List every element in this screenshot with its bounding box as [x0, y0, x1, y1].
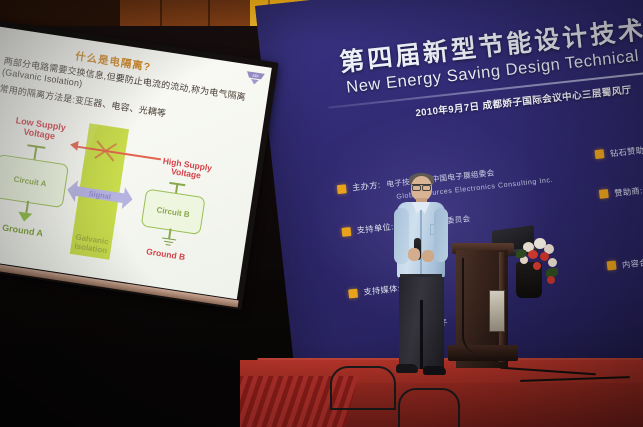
speaker-left-arm: [394, 208, 409, 264]
stage-railing: [398, 388, 460, 427]
speaker-left-hand: [408, 248, 420, 261]
foreground-dark-floor: [0, 345, 240, 427]
podium-nameplate: [489, 290, 505, 332]
speaker-right-shoe: [423, 366, 446, 375]
stage-railing: [330, 366, 396, 410]
screenshot-root: 第四届新型节能设计技术 New Energy Saving Design Tec…: [0, 0, 643, 427]
diagram-high-supply-label: High Supply Voltage: [153, 155, 221, 183]
diagram-circuit-b: Circuit B: [141, 188, 206, 235]
sponsor-row-sponsor: 赞助商: TI: [599, 179, 643, 201]
microphone-cable: [462, 258, 480, 354]
bullet-square-icon: [595, 149, 605, 159]
bullet-square-icon: [337, 184, 347, 194]
screen-surface: 什么是电隔离? 两部分电路需要交换信息,但要防止电流的流动,称为电气隔离(Gal…: [0, 25, 272, 299]
adi-logo-icon: ADI: [244, 69, 266, 88]
diagram-ground-b-label: Ground B: [136, 246, 195, 264]
projection-screen: 什么是电隔离? 两部分电路需要交换信息,但要防止电流的流动,称为电气隔离(Gal…: [0, 18, 279, 310]
diagram-ground-a-label: Ground A: [0, 221, 59, 242]
sponsor-row-label: 钻石赞助商:: [609, 142, 643, 159]
conference-backdrop-banner: 第四届新型节能设计技术 New Energy Saving Design Tec…: [255, 0, 643, 404]
speaker-glasses: [412, 184, 431, 190]
bullet-square-icon: [341, 226, 351, 236]
bullet-square-icon: [599, 189, 609, 199]
diagram-ground-a-symbol: [17, 212, 32, 223]
diagram-current-arrowhead: [69, 140, 78, 151]
diagram-circuit-a: Circuit A: [0, 154, 69, 208]
speaker-leg-split: [420, 300, 423, 369]
bullet-square-icon: [607, 261, 617, 271]
speaker-left-shoe: [396, 364, 418, 373]
diagram-isolation-label: Galvanic Isolation: [74, 232, 110, 255]
speaker-right-arm: [434, 208, 448, 262]
sponsor-row-label: 内容合作伙伴:: [621, 253, 643, 271]
sponsor-row-content-partner: 内容合作伙伴: 安防网: [606, 248, 643, 273]
podium-base: [448, 345, 518, 361]
speaker-right-hand: [422, 250, 434, 262]
diagram-low-supply-label: Low Supply Voltage: [3, 115, 77, 145]
sponsor-row-diamond: 钻石赞助商: ADI: [594, 137, 643, 161]
sponsor-row-label: 赞助商:: [614, 184, 643, 199]
bullet-square-icon: [348, 288, 358, 298]
